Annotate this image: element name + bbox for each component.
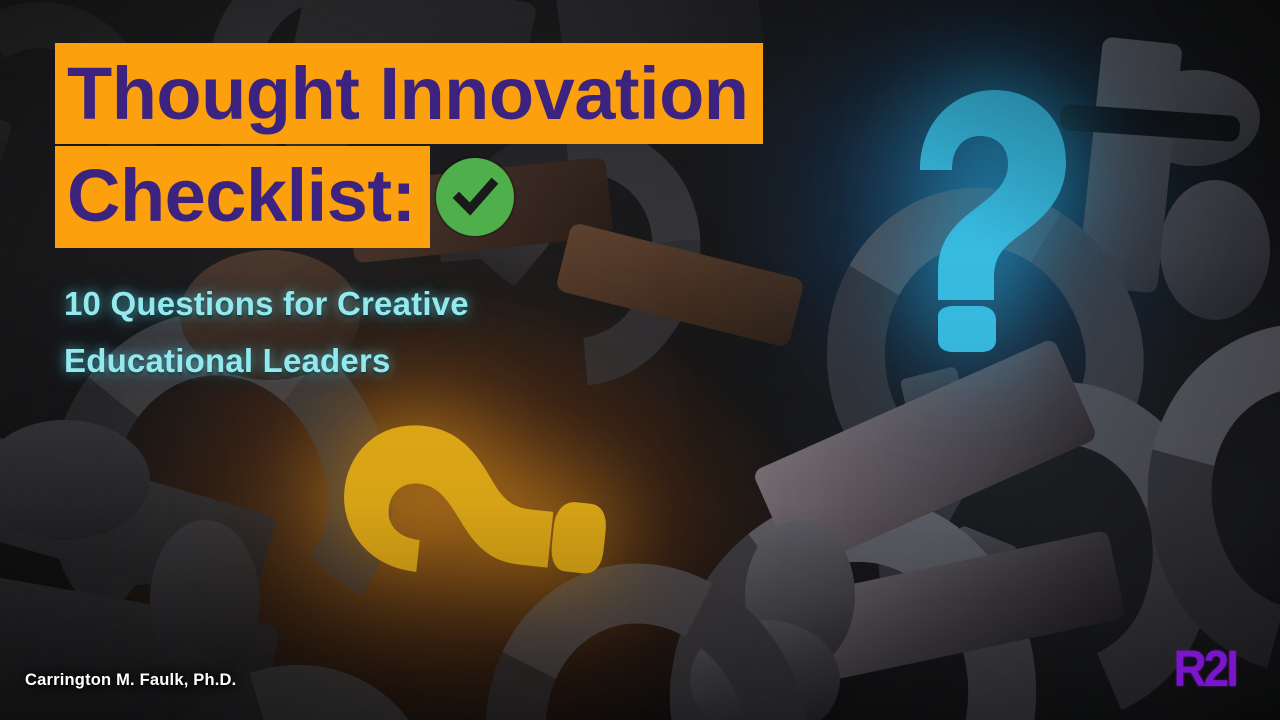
subtitle-line-2: Educational Leaders	[64, 332, 684, 389]
subtitle-line-1: 10 Questions for Creative	[64, 275, 684, 332]
title-row-2: Checklist:	[55, 146, 763, 248]
r2i-logo: R2I	[1174, 645, 1236, 696]
title-block: Thought Innovation Checklist:	[55, 43, 763, 248]
title-line-2: Checklist:	[55, 146, 430, 248]
author-byline: Carrington M. Faulk, Ph.D.	[25, 671, 236, 690]
background-cylinder	[1160, 180, 1270, 320]
subtitle: 10 Questions for Creative Educational Le…	[64, 275, 684, 390]
presentation-slide: Thought Innovation Checklist: 10 Questio…	[0, 0, 1280, 720]
background-cylinder	[150, 520, 260, 680]
glowing-cyan-question-mark	[862, 78, 1092, 353]
title-line-1: Thought Innovation	[55, 43, 763, 144]
glowing-amber-question-mark	[288, 410, 648, 630]
check-circle-icon	[436, 158, 514, 236]
